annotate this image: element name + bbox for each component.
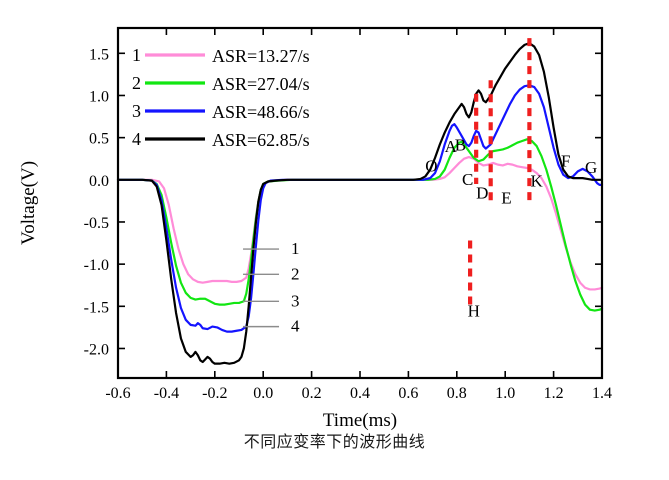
x-tick-label: 1.4 [592,385,612,402]
y-tick-label: 1.5 [89,46,109,63]
curve-callout-3: 3 [291,291,300,310]
figure-container: -0.6-0.4-0.20.00.20.40.60.81.01.21.41.51… [0,0,669,480]
annotation-H: H [468,301,480,320]
y-tick-label: -1.0 [84,257,109,274]
y-tick-label: -0.5 [84,215,109,232]
y-tick-label: 0.0 [89,173,109,190]
x-tick-label: 0.6 [398,385,418,402]
x-tick-label: 1.2 [544,385,564,402]
y-axis-title: Voltage(V) [18,161,39,245]
annotation-C: C [462,170,473,189]
legend-index-2: 2 [132,73,141,93]
legend-label-3: ASR=48.66/s [212,102,310,122]
annotation-K: K [531,172,544,191]
x-tick-label: -0.2 [202,385,227,402]
waveform-chart: -0.6-0.4-0.20.00.20.40.60.81.01.21.41.51… [0,0,669,480]
annotation-F: F [561,151,570,170]
curve-callout-2: 2 [291,264,300,283]
annotation-D: D [476,183,488,202]
x-tick-label: 0.8 [447,385,467,402]
x-tick-label: 0.0 [253,385,273,402]
legend-label-2: ASR=27.04/s [212,74,310,94]
legend-label-1: ASR=13.27/s [212,46,310,66]
y-tick-label: 0.5 [89,131,109,148]
x-tick-label: -0.4 [154,385,179,402]
curve-callout-1: 1 [291,239,300,258]
legend-label-4: ASR=62.85/s [212,130,310,150]
annotation-B: B [455,135,466,154]
curve-callout-4: 4 [291,317,300,336]
legend-index-4: 4 [132,129,141,149]
legend-index-1: 1 [132,45,141,65]
legend-index-3: 3 [132,101,141,121]
y-tick-label: 1.0 [89,88,109,105]
x-tick-label: 0.2 [302,385,322,402]
annotation-E: E [501,188,511,207]
annotation-O: O [425,156,437,175]
x-tick-label: 1.0 [495,385,515,402]
figure-caption: 不同应变率下的波形曲线 [0,428,669,452]
y-tick-label: -1.5 [84,299,109,316]
x-tick-label: 0.4 [350,385,370,402]
annotation-G: G [585,158,597,177]
x-tick-label: -0.6 [105,385,130,402]
y-tick-label: -2.0 [84,341,109,358]
